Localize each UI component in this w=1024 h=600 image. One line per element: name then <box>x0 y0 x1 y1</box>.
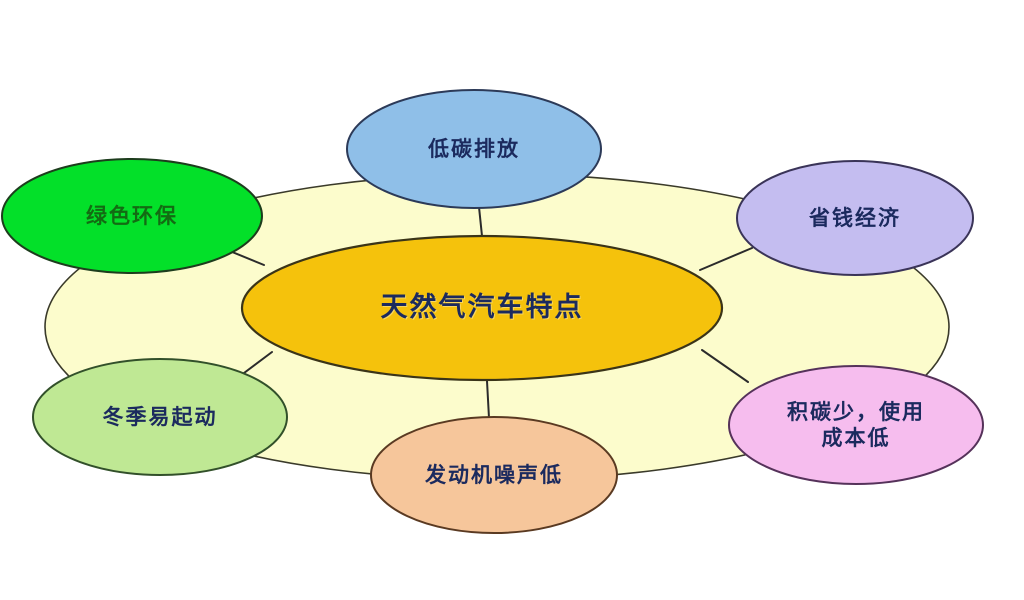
node-ellipse-low-engine-noise[interactable] <box>371 417 617 533</box>
node-ellipse-money-saving-economical[interactable] <box>737 161 973 275</box>
diagram-svg <box>0 0 1024 600</box>
diagram-canvas: 天然气汽车特点 低碳排放绿色环保省钱经济积碳少，使用 成本低冬季易起动发动机噪声… <box>0 0 1024 600</box>
node-ellipse-low-carbon-emission[interactable] <box>347 90 601 208</box>
center-node-ellipse[interactable] <box>242 236 722 380</box>
node-ellipse-easy-winter-start[interactable] <box>33 359 287 475</box>
node-ellipse-low-carbon-deposit-low-cost[interactable] <box>729 366 983 484</box>
node-ellipse-green-environmental[interactable] <box>2 159 262 273</box>
